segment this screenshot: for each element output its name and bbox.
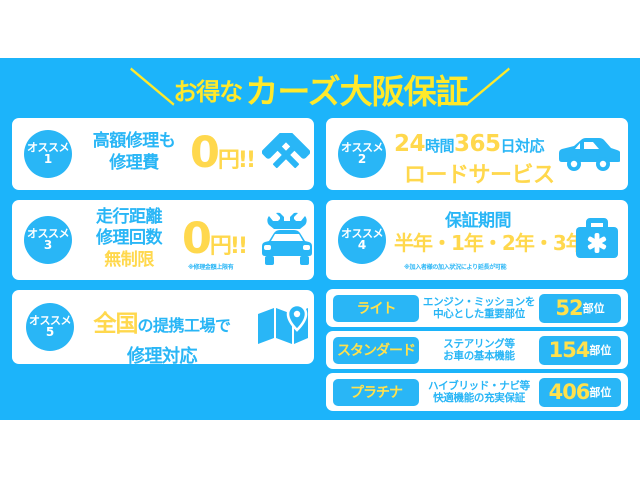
feature-2-days: 365: [454, 131, 501, 157]
feature-3-text: 走行距離 修理回数 無制限: [84, 208, 174, 269]
plan-description: ステアリング等 お車の基本機能: [419, 338, 539, 363]
feature-2-hours: 24: [394, 131, 425, 157]
feature-card-4: オススメ 4 保証期間 半年・1年・2年・3年 ※加入者様の加入状況により延長が…: [326, 200, 628, 280]
plan-desc-line2: 中心とした重要部位: [421, 308, 537, 320]
feature-4-line2: 半年・1年・2年・3年: [394, 233, 562, 255]
badge-number: 4: [358, 239, 366, 252]
feature-5-text: 全国の提携工場で 修理対応: [86, 304, 238, 368]
feature-3-line3: 無制限: [84, 251, 174, 269]
plan-desc-line1: ハイブリッド・ナビ等: [421, 380, 537, 392]
plan-count-unit: 部位: [583, 300, 605, 316]
feature-5-line1: 全国の提携工場で: [86, 304, 238, 338]
feature-1-line2: 修理費: [80, 154, 188, 172]
feature-1-text: 高額修理も 修理費: [80, 132, 188, 173]
plan-desc-line2: お車の基本機能: [421, 350, 537, 362]
feature-4-note: ※加入者様の加入状況により延長が可能: [404, 262, 506, 271]
feature-5-line1-rest: の提携工場で: [137, 316, 230, 335]
wrench-car-icon: [260, 212, 314, 268]
plan-row-platinum[interactable]: プラチナ ハイブリッド・ナビ等 快適機能の充実保証 406部位: [326, 373, 628, 411]
plan-description: ハイブリッド・ナビ等 快適機能の充実保証: [419, 380, 539, 405]
feature-2-days-unit: 日対応: [501, 137, 545, 155]
badge-recommend-2: オススメ 2: [338, 130, 386, 178]
feature-3-note: ※修理金額上限有: [188, 262, 233, 271]
plan-count-unit: 部位: [589, 342, 611, 358]
plan-count-pill: 154部位: [539, 336, 621, 365]
plan-description: エンジン・ミッションを 中心とした重要部位: [419, 296, 539, 321]
feature-3-yen: 円!!: [210, 234, 246, 259]
feature-1-zero: 0: [190, 128, 218, 178]
headline-slash-right: ／: [463, 69, 510, 108]
feature-card-3: オススメ 3 走行距離 修理回数 無制限 0円!! ※修理金額上限有: [12, 200, 314, 280]
feature-4-line1: 保証期間: [394, 212, 562, 230]
toolcase-icon: [573, 214, 621, 262]
badge-number: 3: [44, 239, 52, 252]
plan-name-pill: プラチナ: [333, 379, 419, 406]
plan-count-number: 406: [549, 380, 590, 404]
plan-desc-line1: エンジン・ミッションを: [421, 296, 537, 308]
feature-3-line2: 修理回数: [84, 229, 174, 247]
feature-1-line1: 高額修理も: [80, 132, 188, 150]
page-title: ＼ お得な カーズ大阪保証 ／: [0, 66, 640, 112]
plan-count-pill: 406部位: [539, 378, 621, 407]
headline-big-text: カーズ大阪保証: [245, 65, 467, 113]
badge-number: 5: [46, 326, 54, 339]
badge-recommend-3: オススメ 3: [24, 216, 72, 264]
plan-desc-line2: 快適機能の充実保証: [421, 392, 537, 404]
plan-desc-line1: ステアリング等: [421, 338, 537, 350]
feature-4-text: 保証期間 半年・1年・2年・3年: [394, 212, 562, 255]
crossed-hammers-icon: [262, 133, 310, 177]
badge-recommend-4: オススメ 4: [338, 216, 386, 264]
plan-row-standard[interactable]: スタンダード ステアリング等 お車の基本機能 154部位: [326, 331, 628, 369]
feature-1-yen: 円!!: [218, 148, 254, 173]
feature-5-line1-highlight: 全国: [93, 311, 137, 337]
badge-number: 2: [358, 153, 366, 166]
feature-2-hours-unit: 時間: [425, 137, 454, 155]
feature-2-line1: 24時間365日対応: [394, 131, 544, 157]
feature-3-zero: 0: [182, 214, 210, 264]
feature-3-highlight: 0円!!: [182, 218, 246, 261]
plan-name-pill: ライト: [333, 295, 419, 322]
plan-count-number: 154: [549, 338, 590, 362]
feature-card-1: オススメ 1 高額修理も 修理費 0円!!: [12, 118, 314, 190]
feature-card-5: オススメ 5 全国の提携工場で 修理対応: [12, 290, 314, 364]
plan-count-pill: 52部位: [539, 294, 621, 323]
feature-2-line2: ロードサービス: [404, 157, 555, 189]
plan-count-unit: 部位: [589, 384, 611, 400]
warranty-poster: ＼ お得な カーズ大阪保証 ／ オススメ 1 高額修理も 修理費 0円!!: [0, 0, 640, 480]
headline-slash-left: ＼: [130, 69, 177, 108]
map-pin-icon: [256, 304, 312, 350]
headline-small-text: お得な: [172, 72, 243, 107]
badge-recommend-1: オススメ 1: [24, 130, 72, 178]
feature-5-line2: 修理対応: [86, 342, 238, 368]
feature-card-2: オススメ 2 24時間365日対応 ロードサービス: [326, 118, 628, 190]
badge-number: 1: [44, 153, 52, 166]
feature-1-highlight: 0円!!: [190, 132, 254, 175]
plan-count-number: 52: [555, 296, 582, 320]
car-side-icon: [558, 136, 620, 174]
badge-recommend-5: オススメ 5: [26, 303, 74, 351]
plan-row-light[interactable]: ライト エンジン・ミッションを 中心とした重要部位 52部位: [326, 289, 628, 327]
plan-name-pill: スタンダード: [333, 337, 419, 364]
feature-3-line1: 走行距離: [84, 208, 174, 226]
